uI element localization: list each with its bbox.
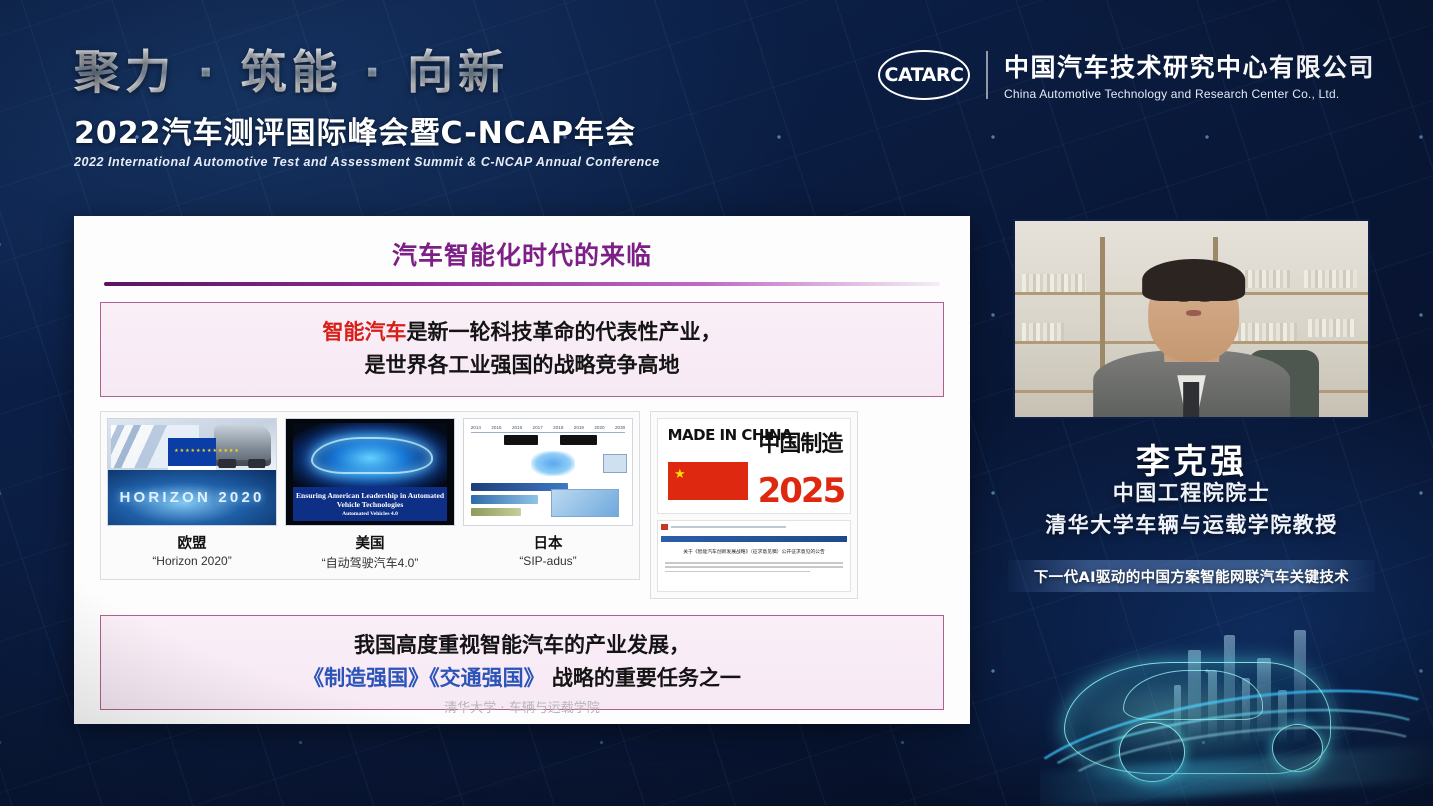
broadcast-stage: 聚力 · 筑能 · 向新 2022汽车测评国际峰会暨C-NCAP年会 2022 … <box>0 0 1433 806</box>
doc-line <box>665 571 810 573</box>
jp-year: 2015 <box>491 425 501 430</box>
organizer-branding: CATARC 中国汽车技术研究中心有限公司 China Automotive T… <box>878 48 1375 101</box>
doc-body-lines <box>661 562 847 572</box>
slide-footer: 清华大学 · 车辆与运载学院 <box>74 697 970 716</box>
speaker-name: 李克强 <box>1013 434 1370 483</box>
us-report-subtitle: Automated Vehicles 4.0 <box>342 511 398 517</box>
callout-bottom-line2-rest: 战略的重要任务之一 <box>545 666 741 690</box>
doc-browser-bar <box>661 524 847 530</box>
speaker-titles: 中国工程院院士 清华大学车辆与运载学院教授 <box>1000 478 1383 541</box>
books-row <box>1308 319 1357 337</box>
presentation-topic-bar: 下一代AI驱动的中国方案智能网联汽车关键技术 <box>1008 560 1375 592</box>
callout-box-bottom: 我国高度重视智能汽车的产业发展， 《制造强国》《交通强国》 战略的重要任务之一 <box>100 615 944 710</box>
callout-bottom-line2: 《制造强国》《交通强国》 战略的重要任务之一 <box>111 662 933 695</box>
jp-roadmap-track <box>471 508 521 515</box>
speaker-title-line1: 中国工程院院士 <box>1000 478 1383 510</box>
jp-year: 2030 <box>615 425 625 430</box>
jp-year: 2016 <box>512 425 522 430</box>
card-eu-region: 欧盟 <box>107 532 277 553</box>
books-row <box>1022 323 1064 341</box>
card-eu-program: “Horizon 2020” <box>107 554 277 568</box>
card-us-program: “自动驾驶汽车4.0” <box>285 554 455 571</box>
title-underline-rule <box>104 282 940 286</box>
doc-breadcrumb-line <box>671 526 786 528</box>
jp-roadmap-track <box>471 495 538 503</box>
speaker-portrait <box>1093 256 1291 417</box>
card-us: Ensuring American Leadership in Automate… <box>285 418 455 571</box>
us-report-title: Ensuring American Leadership in Automate… <box>294 491 447 510</box>
card-jp-region: 日本 <box>463 532 633 553</box>
catarc-logo-icon: CATARC <box>878 50 970 100</box>
callout-top-highlight: 智能汽车 <box>323 320 407 344</box>
speaker-video-feed[interactable] <box>1013 219 1370 419</box>
china-policy-document-screenshot: 关于《智能汽车创新发展战略》（征求意见稿）公开征求意见的公告 <box>657 520 851 592</box>
eu-horizon-banner-text: HORIZON 2020 <box>119 489 264 506</box>
card-us-region: 美国 <box>285 532 455 553</box>
organizer-name-chinese: 中国汽车技术研究中心有限公司 <box>1004 48 1375 84</box>
logo-divider <box>986 51 988 99</box>
organizer-names: 中国汽车技术研究中心有限公司 China Automotive Technolo… <box>1004 48 1375 101</box>
us-report-title-block: Ensuring American Leadership in Automate… <box>293 487 448 521</box>
jp-year: 2014 <box>471 425 481 430</box>
necktie <box>1184 382 1200 417</box>
callout-box-top: 智能汽车是新一轮科技革命的代表性产业， 是世界各工业强国的战略竞争高地 <box>100 302 944 397</box>
jp-roadmap-milestone-tag <box>560 435 597 445</box>
slide-title: 汽车智能化时代的来临 <box>96 230 948 272</box>
us-wireframe-car-image <box>293 423 448 487</box>
callout-bottom-strategy-b: 《交通强国》 <box>429 666 545 690</box>
callout-top-line2: 是世界各工业强国的战略竞争高地 <box>111 349 933 382</box>
doc-title: 关于《智能汽车创新发展战略》（征求意见稿）公开征求意见的公告 <box>661 549 847 556</box>
international-programs-group: HORIZON 2020 欧盟 “Horizon 2020” Ensuring … <box>100 411 640 580</box>
jp-roadmap-year-axis: 2014 2015 2016 2017 2018 2019 2020 2030 <box>471 425 626 433</box>
callout-top-line1-rest: 是新一轮科技革命的代表性产业， <box>407 320 722 344</box>
card-jp-program: “SIP-adus” <box>463 554 633 568</box>
eu-truck-image <box>214 425 271 465</box>
books-row <box>1304 270 1357 288</box>
callout-bottom-line1: 我国高度重视智能汽车的产业发展， <box>111 629 933 662</box>
jp-year: 2020 <box>594 425 604 430</box>
wireframe-car-graphic <box>1040 606 1433 806</box>
books-row <box>1022 274 1086 292</box>
card-jp-caption: 日本 “SIP-adus” <box>463 526 633 568</box>
presentation-slide: 汽车智能化时代的来临 智能汽车是新一轮科技革命的代表性产业， 是世界各工业强国的… <box>74 216 970 724</box>
card-us-caption: 美国 “自动驾驶汽车4.0” <box>285 526 455 571</box>
card-eu: HORIZON 2020 欧盟 “Horizon 2020” <box>107 418 277 571</box>
event-branding: 聚力 · 筑能 · 向新 2022汽车测评国际峰会暨C-NCAP年会 2022 … <box>74 36 660 169</box>
card-eu-caption: 欧盟 “Horizon 2020” <box>107 526 277 568</box>
made-in-china-2025-image: MADE IN CHINA 中国制造 2025 <box>657 418 851 514</box>
jp-roadmap-milestone-tag <box>504 435 538 445</box>
card-jp: 2014 2015 2016 2017 2018 2019 2020 2030 <box>463 418 633 571</box>
european-flag-icon <box>168 438 215 466</box>
jp-infrastructure-panel <box>603 454 627 473</box>
callout-top-line1: 智能汽车是新一轮科技革命的代表性产业， <box>111 316 933 349</box>
doc-site-logo-icon <box>661 524 668 530</box>
eu-horizon-2020-thumbnail: HORIZON 2020 <box>107 418 277 526</box>
jp-vehicle-illustration <box>531 451 575 476</box>
card-china: MADE IN CHINA 中国制造 2025 关于《智能汽车创新发展战略》（征… <box>650 411 858 599</box>
doc-nav-bar <box>661 536 847 542</box>
event-slogan: 聚力 · 筑能 · 向新 <box>74 36 660 102</box>
event-title-chinese: 2022汽车测评国际峰会暨C-NCAP年会 <box>74 108 660 152</box>
jp-year: 2017 <box>533 425 543 430</box>
jp-roadmap-target-block <box>551 489 618 517</box>
organizer-name-english: China Automotive Technology and Research… <box>1004 87 1375 101</box>
china-flag-icon <box>668 462 749 500</box>
event-title-english: 2022 International Automotive Test and A… <box>74 155 660 169</box>
eu-horizon-banner: HORIZON 2020 <box>108 470 276 525</box>
callout-bottom-strategy-a: 《制造强国》 <box>303 666 429 690</box>
speaker-title-line2: 清华大学车辆与运载学院教授 <box>1000 510 1383 542</box>
made-in-china-year: 2025 <box>758 471 845 511</box>
jp-year: 2019 <box>574 425 584 430</box>
reference-card-row: HORIZON 2020 欧盟 “Horizon 2020” Ensuring … <box>100 411 944 599</box>
mouth <box>1186 310 1201 316</box>
hair <box>1142 259 1245 301</box>
made-in-china-hanzi: 中国制造 <box>758 426 842 458</box>
doc-line <box>665 566 843 568</box>
jp-year: 2018 <box>553 425 563 430</box>
jp-sip-adus-roadmap-thumbnail: 2014 2015 2016 2017 2018 2019 2020 2030 <box>463 418 633 526</box>
page-header: 聚力 · 筑能 · 向新 2022汽车测评国际峰会暨C-NCAP年会 2022 … <box>0 0 1433 190</box>
doc-line <box>665 562 843 564</box>
presentation-topic: 下一代AI驱动的中国方案智能网联汽车关键技术 <box>1034 566 1349 587</box>
us-automated-vehicles-thumbnail: Ensuring American Leadership in Automate… <box>285 418 455 526</box>
